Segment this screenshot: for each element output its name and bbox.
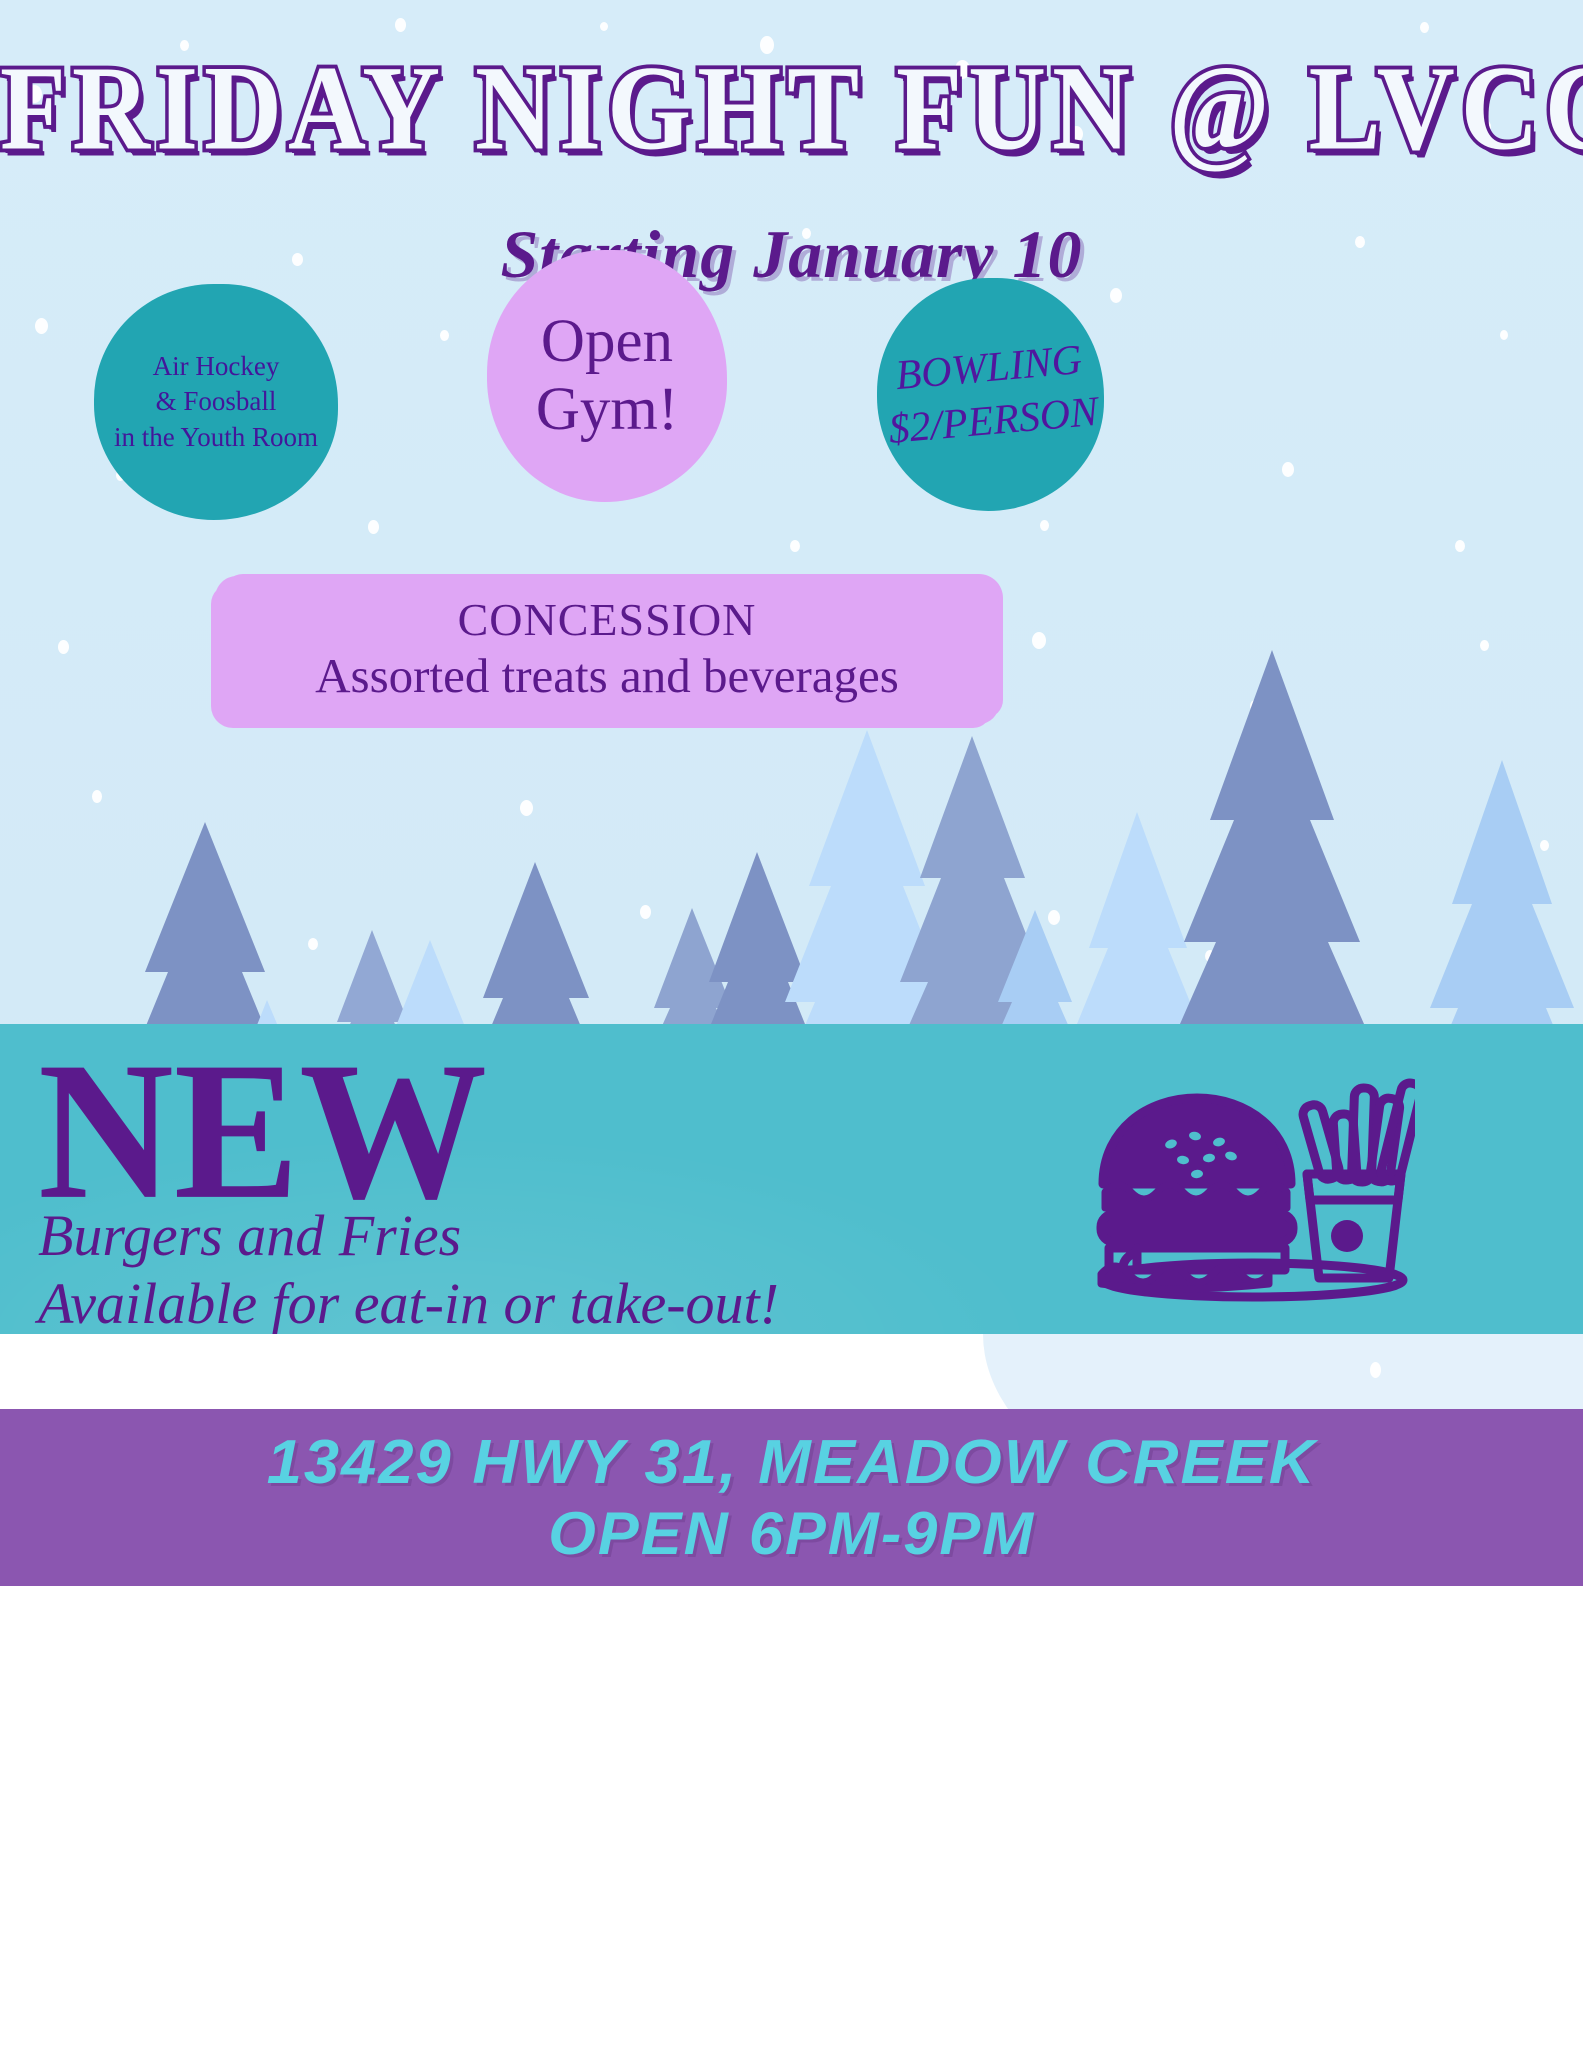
activity-line: Open	[536, 308, 678, 376]
activity-badge-text: Open Gym!	[536, 308, 678, 445]
snowflake	[790, 540, 800, 552]
page-title: FRIDAY NIGHT FUN @ LVCC	[0, 40, 1583, 179]
snowflake	[1500, 330, 1508, 340]
snowflake	[1480, 640, 1489, 651]
new-headline: NEW	[38, 1032, 487, 1229]
footer-info-band: 13429 HWY 31, MEADOW CREEK OPEN 6PM-9PM	[0, 1409, 1583, 1586]
snowflake	[1032, 632, 1046, 649]
new-description: Burgers and Fries Available for eat-in o…	[38, 1202, 779, 1339]
concession-description: Assorted treats and beverages	[315, 648, 899, 704]
snowflake	[1420, 22, 1429, 33]
snowflake	[395, 18, 406, 32]
page-subtitle: Starting January 10	[0, 215, 1583, 294]
snowflake	[58, 640, 69, 654]
concession-heading: CONCESSION	[458, 596, 757, 644]
activity-badge-text: Air Hockey & Foosball in the Youth Room	[114, 349, 318, 456]
footer-hours: OPEN 6PM-9PM	[548, 1499, 1035, 1570]
snowflake	[35, 318, 48, 334]
snowflake	[92, 790, 102, 803]
activity-line: in the Youth Room	[114, 420, 318, 456]
footer-address: 13429 HWY 31, MEADOW CREEK	[267, 1426, 1317, 1499]
new-line-2: Available for eat-in or take-out!	[38, 1270, 779, 1338]
activity-badge-text: BOWLING $2/PERSON	[881, 333, 1099, 456]
burger-and-fries-icon	[1085, 1052, 1415, 1302]
snowflake	[1040, 520, 1049, 531]
activity-badge-open-gym: Open Gym!	[487, 250, 727, 502]
activity-line: Air Hockey	[114, 349, 318, 385]
snowflake	[368, 520, 379, 534]
activity-badge-bowling: BOWLING $2/PERSON	[877, 278, 1104, 511]
snowflake	[520, 800, 533, 816]
activity-line: Gym!	[536, 376, 678, 444]
snowflake	[1455, 540, 1465, 552]
snowflake	[1370, 1362, 1381, 1378]
activity-line: & Foosball	[114, 384, 318, 420]
activity-badge-air-hockey: Air Hockey & Foosball in the Youth Room	[94, 284, 338, 520]
flyer-poster: FRIDAY NIGHT FUN @ LVCC Starting January…	[0, 0, 1583, 2048]
snowflake	[440, 330, 449, 341]
snowflake	[600, 22, 608, 31]
concession-banner: CONCESSION Assorted treats and beverages	[215, 576, 999, 724]
footer-whitespace	[0, 1586, 1583, 2048]
new-line-1: Burgers and Fries	[38, 1202, 779, 1270]
snowflake	[1282, 462, 1294, 477]
